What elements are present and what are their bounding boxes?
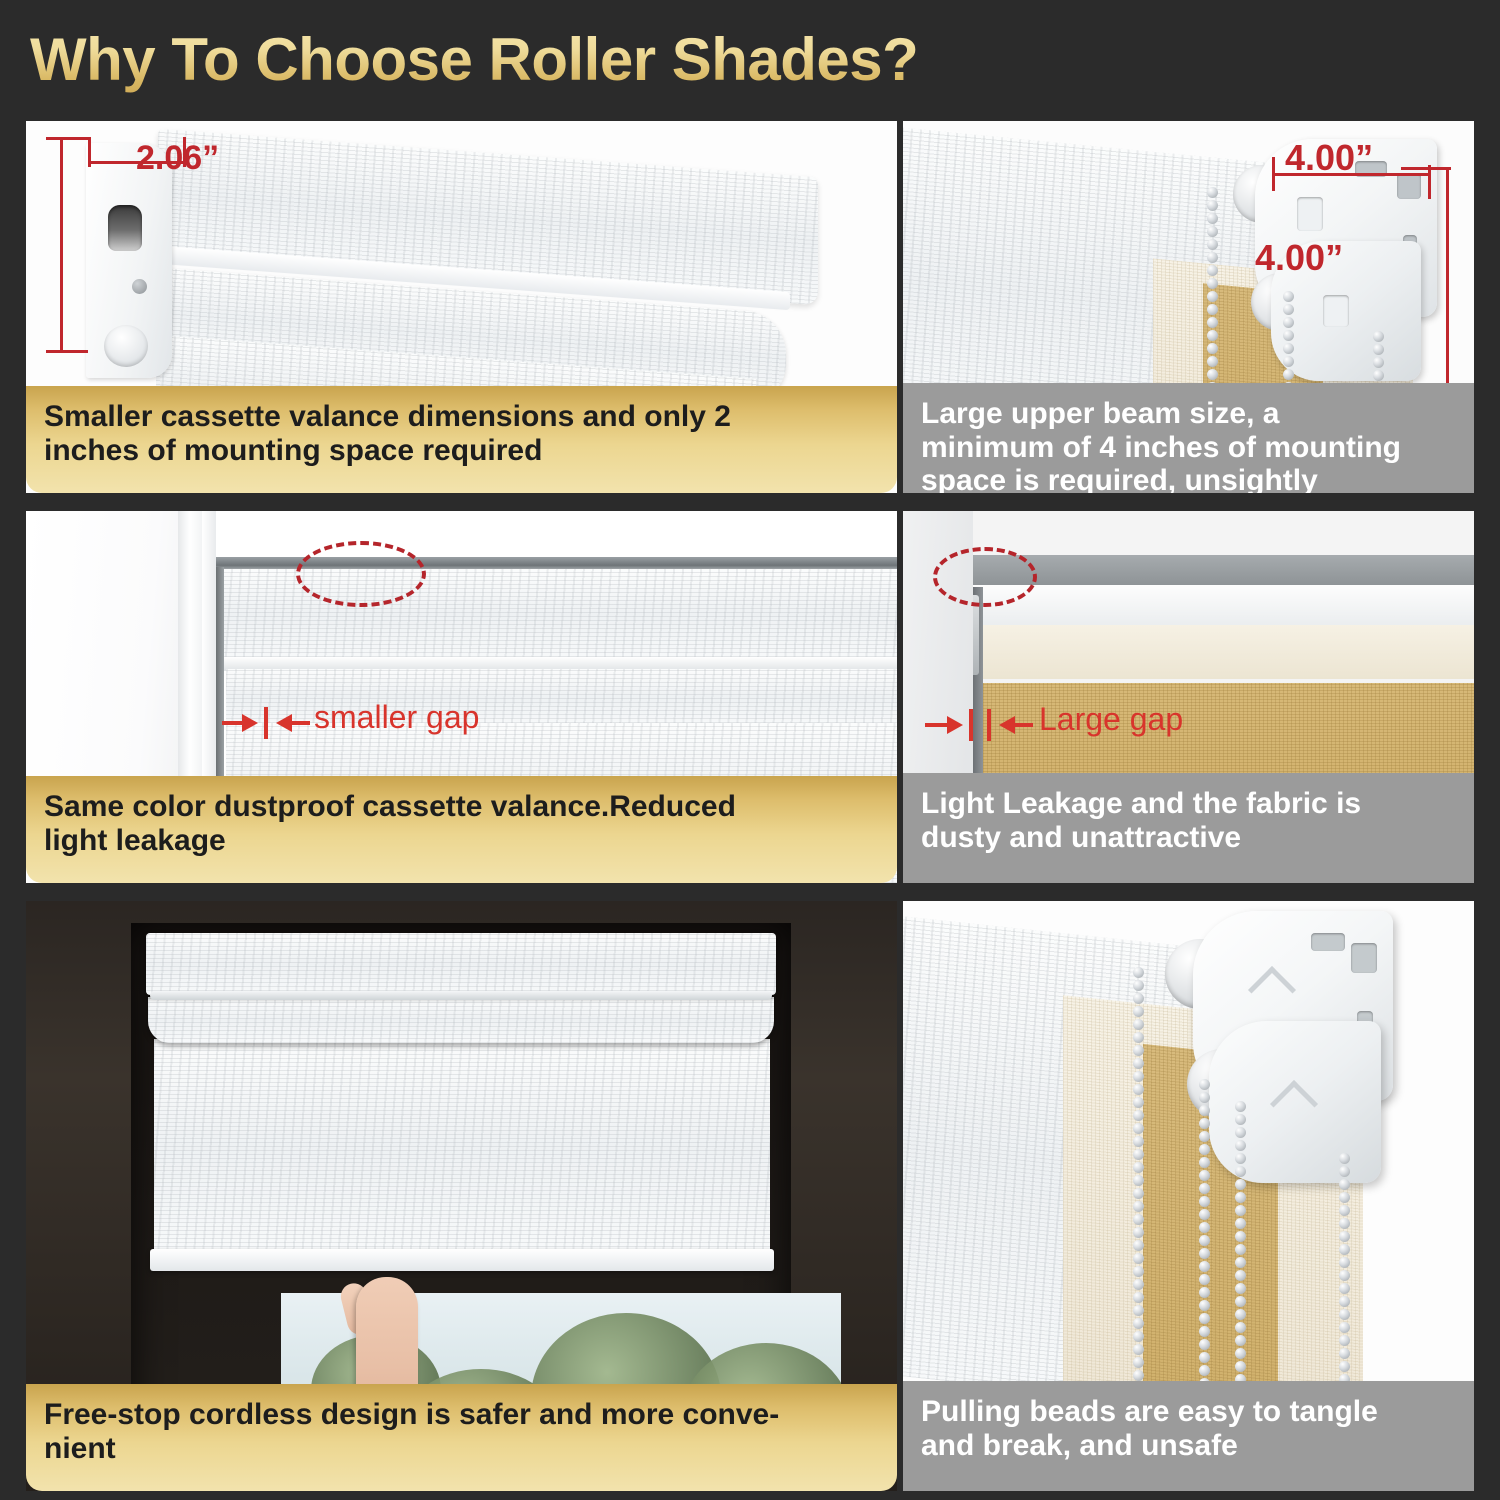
panel-caption-pro-1: Smaller cassette valance dimensions and … (26, 386, 897, 493)
end-cap-bracket (86, 143, 172, 378)
panel-pulling-beads: Pulling beads are easy to tangle and bre… (903, 901, 1474, 1491)
arrow-left-icon (276, 714, 292, 732)
caption-line: Free-stop cordless design is safer and m… (44, 1398, 879, 1432)
gap-label-smaller: smaller gap (314, 699, 479, 736)
caption-line: and break, and unsafe (921, 1429, 1456, 1463)
caption-line: Large upper beam size, a (921, 397, 1456, 431)
gap-label-large: Large gap (1039, 701, 1183, 738)
highlight-ellipse-gap (296, 541, 426, 607)
dim-tick-top (46, 137, 88, 140)
bracket-emboss (1323, 295, 1349, 327)
dim-tick-left (88, 137, 91, 167)
bracket-screw (132, 279, 147, 294)
panel-cordless-design: Free-stop cordless design is safer and m… (26, 901, 897, 1491)
panel-caption-con-3: Pulling beads are easy to tangle and bre… (903, 1381, 1474, 1491)
bracket-notch (108, 205, 142, 251)
panel-smaller-cassette: 2.06” 5.49” Smaller cassette valance dim… (26, 121, 897, 493)
dim-tick-bottom (46, 350, 88, 353)
cassette-valance (146, 933, 776, 995)
panel-caption-con-1: Large upper beam size, a minimum of 4 in… (903, 383, 1474, 493)
dimension-label-width: 2.06” (136, 139, 219, 178)
dim-tick-right (1428, 165, 1431, 199)
dimension-label-height: 4.00” (1255, 237, 1343, 279)
panel-caption-pro-3: Free-stop cordless design is safer and m… (26, 1384, 897, 1491)
bracket-emboss (1297, 197, 1323, 231)
panel-caption-pro-2: Same color dustproof cassette valance.Re… (26, 776, 897, 883)
bead-chain-left (1133, 967, 1144, 1407)
highlight-ellipse-gap (933, 547, 1037, 607)
caption-line: Pulling beads are easy to tangle (921, 1395, 1456, 1429)
shade-fabric (154, 1039, 770, 1255)
caption-line: Smaller cassette valance dimensions and … (44, 400, 879, 434)
caption-line: dusty and unattractive (921, 821, 1456, 855)
caption-line: nient (44, 1432, 879, 1466)
bracket-chevron-emboss (1270, 1080, 1318, 1128)
arrow-tail-left (222, 721, 244, 725)
valance-lip (150, 991, 772, 1000)
beam-white-face (969, 585, 1474, 629)
beam-top-edge (961, 555, 1474, 587)
bottom-rail (150, 1249, 774, 1271)
arrow-tail-right (1015, 723, 1033, 727)
gap-marker (264, 707, 268, 739)
caption-line: inches of mounting space required (44, 434, 879, 468)
bead-chain-inner (1235, 1101, 1246, 1401)
bracket-chevron-emboss (1248, 966, 1296, 1014)
bead-chain-middle (1199, 1079, 1210, 1409)
dim-tick-top (1401, 167, 1451, 170)
beam-cream-face (973, 625, 1474, 679)
caption-line: space is required, unsightly (921, 464, 1456, 493)
comparison-grid: 2.06” 5.49” Smaller cassette valance dim… (0, 112, 1500, 1500)
arrow-right-icon (242, 714, 258, 732)
arrow-tail-right (292, 721, 310, 725)
page-header: Why To Choose Roller Shades? (30, 14, 1130, 106)
caption-line: light leakage (44, 824, 879, 858)
panel-smaller-gap: smaller gap Same color dustproof cassett… (26, 511, 897, 883)
caption-line: minimum of 4 inches of mounting (921, 431, 1456, 465)
bracket-roller-pin (104, 325, 148, 367)
panel-large-gap: Large gap Light Leakage and the fabric i… (903, 511, 1474, 883)
bracket-slot (1311, 933, 1345, 951)
gap-marker-b (987, 709, 991, 741)
dimension-label-width: 4.00” (1285, 137, 1373, 179)
dim-tick-left (1272, 157, 1275, 191)
page-title: Why To Choose Roller Shades? (30, 14, 1130, 106)
bracket-slot (1351, 943, 1377, 973)
caption-line: Light Leakage and the fabric is (921, 787, 1456, 821)
panel-large-beam: 4.00” 4.00” Large upper beam size, a min… (903, 121, 1474, 493)
gap-marker-a (969, 709, 973, 741)
arrow-right-icon (947, 716, 963, 734)
dim-line-height (60, 137, 63, 353)
roller-tube (148, 997, 774, 1043)
arrow-tail-left (925, 723, 949, 727)
caption-line: Same color dustproof cassette valance.Re… (44, 790, 879, 824)
panel-caption-con-2: Light Leakage and the fabric is dusty an… (903, 773, 1474, 883)
arrow-left-icon (999, 716, 1015, 734)
bead-chain-tail (1339, 1153, 1350, 1403)
bracket-slot (1397, 173, 1421, 199)
